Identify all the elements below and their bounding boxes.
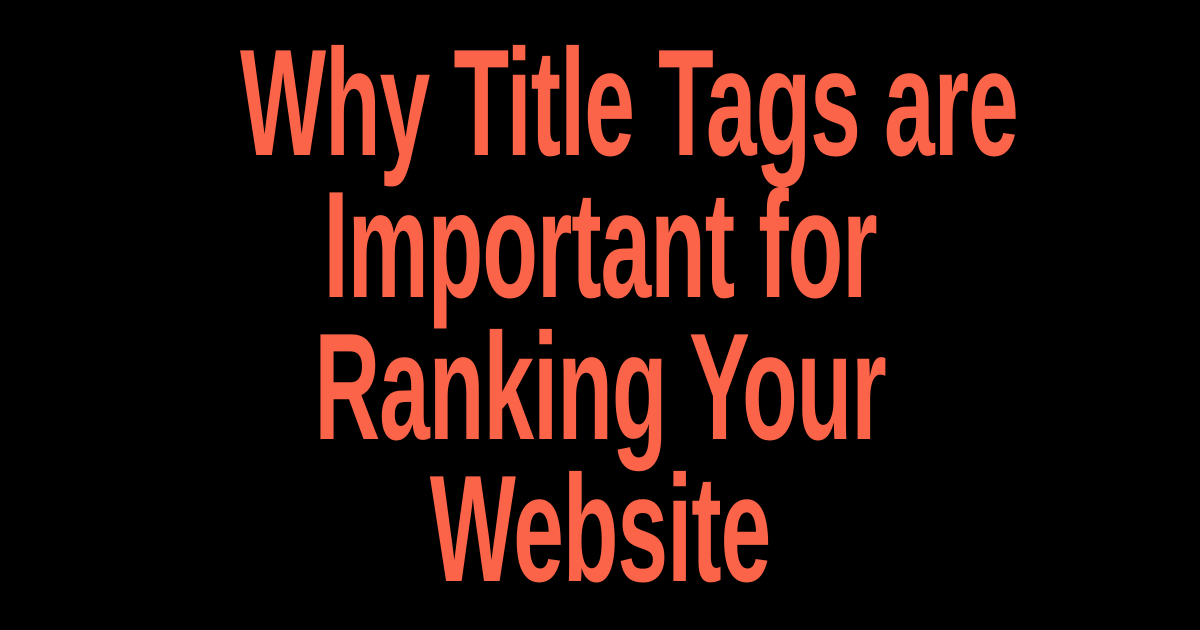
og-card: Why Title Tags are Important for Ranking…: [0, 0, 1200, 630]
headline-line-1: Why Title Tags are: [240, 32, 960, 174]
headline-line-3: Ranking Your: [240, 316, 960, 458]
headline-line-4: Website: [240, 458, 960, 600]
headline-line-2: Important for: [240, 174, 960, 316]
page-title: Why Title Tags are Important for Ranking…: [0, 32, 1200, 600]
